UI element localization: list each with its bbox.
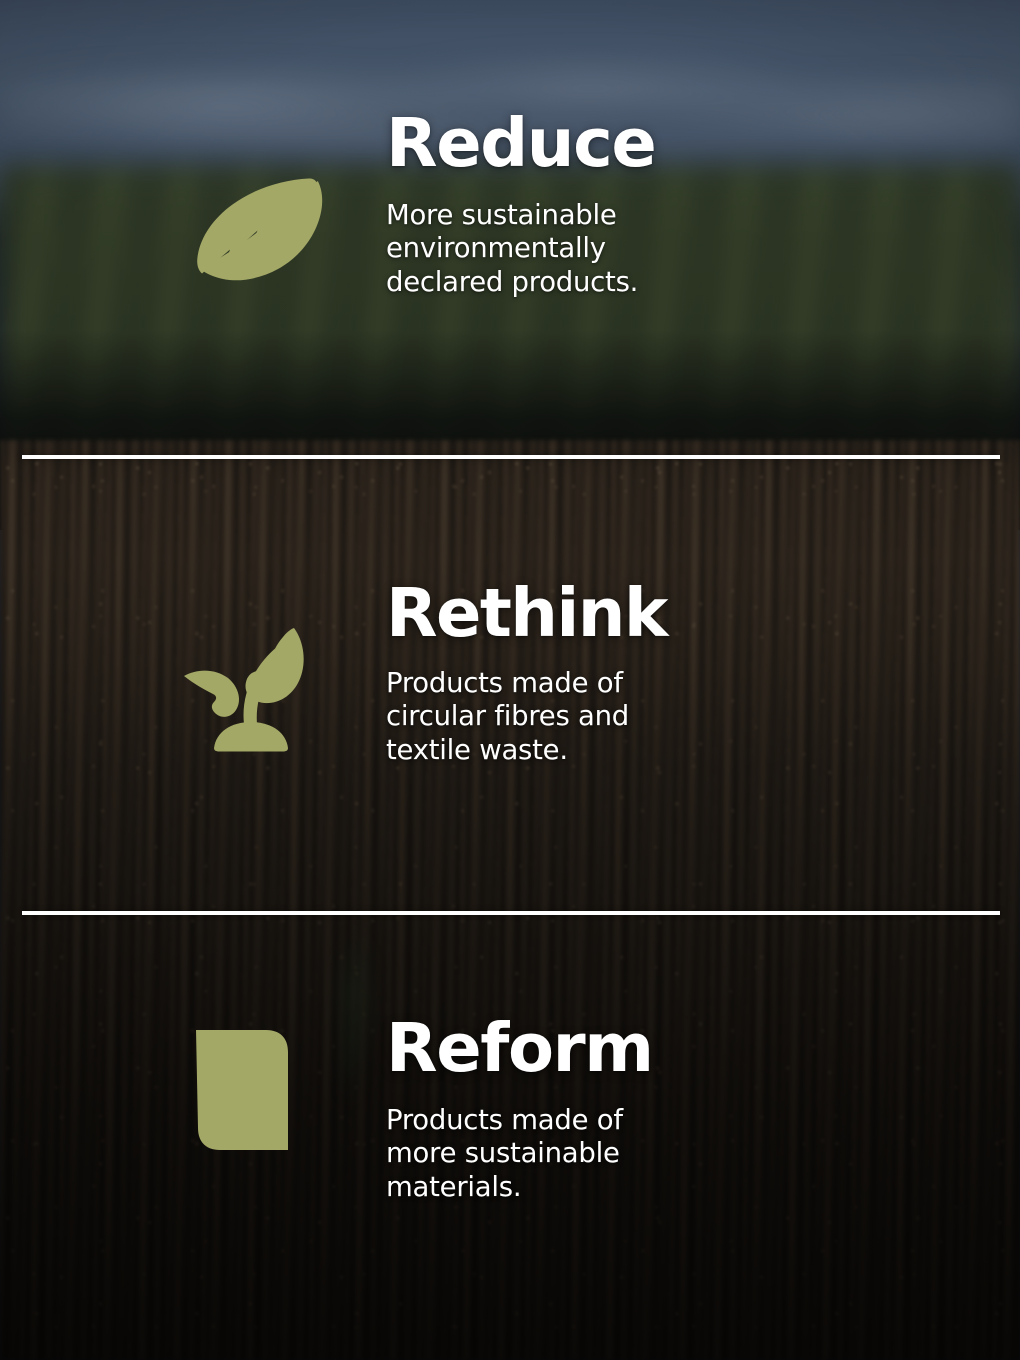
body-line: textile waste. bbox=[386, 734, 906, 767]
section-body-reduce: More sustainable environmentally declare… bbox=[386, 199, 906, 299]
body-line: More sustainable bbox=[386, 199, 906, 232]
rethink-text-block: Rethink Products made of circular fibres… bbox=[386, 580, 906, 767]
sprout-icon bbox=[176, 610, 326, 755]
body-line: circular fibres and bbox=[386, 700, 906, 733]
section-heading-reform: Reform bbox=[386, 1015, 906, 1082]
divider-above-rethink bbox=[22, 455, 1000, 459]
section-body-rethink: Products made of circular fibres and tex… bbox=[386, 667, 906, 767]
section-heading-rethink: Rethink bbox=[386, 580, 906, 647]
section-reduce: Reduce More sustainable environmentally … bbox=[0, 110, 1020, 360]
leaf-icon bbox=[196, 178, 326, 283]
section-heading-reduce: Reduce bbox=[386, 110, 906, 177]
body-line: Products made of bbox=[386, 1104, 906, 1137]
body-line: Products made of bbox=[386, 667, 906, 700]
rounded-square-icon bbox=[196, 1030, 292, 1150]
reform-text-block: Reform Products made of more sustainable… bbox=[386, 1015, 906, 1204]
body-line: more sustainable bbox=[386, 1137, 906, 1170]
body-line: materials. bbox=[386, 1171, 906, 1204]
section-rethink: Rethink Products made of circular fibres… bbox=[0, 580, 1020, 830]
section-reform: Reform Products made of more sustainable… bbox=[0, 1015, 1020, 1265]
divider-above-reform bbox=[22, 911, 1000, 915]
body-line: declared products. bbox=[386, 266, 906, 299]
reduce-text-block: Reduce More sustainable environmentally … bbox=[386, 110, 906, 299]
poster-content: Reduce More sustainable environmentally … bbox=[0, 0, 1020, 1360]
section-body-reform: Products made of more sustainable materi… bbox=[386, 1104, 906, 1204]
poster-root: Reduce More sustainable environmentally … bbox=[0, 0, 1020, 1360]
body-line: environmentally bbox=[386, 232, 906, 265]
